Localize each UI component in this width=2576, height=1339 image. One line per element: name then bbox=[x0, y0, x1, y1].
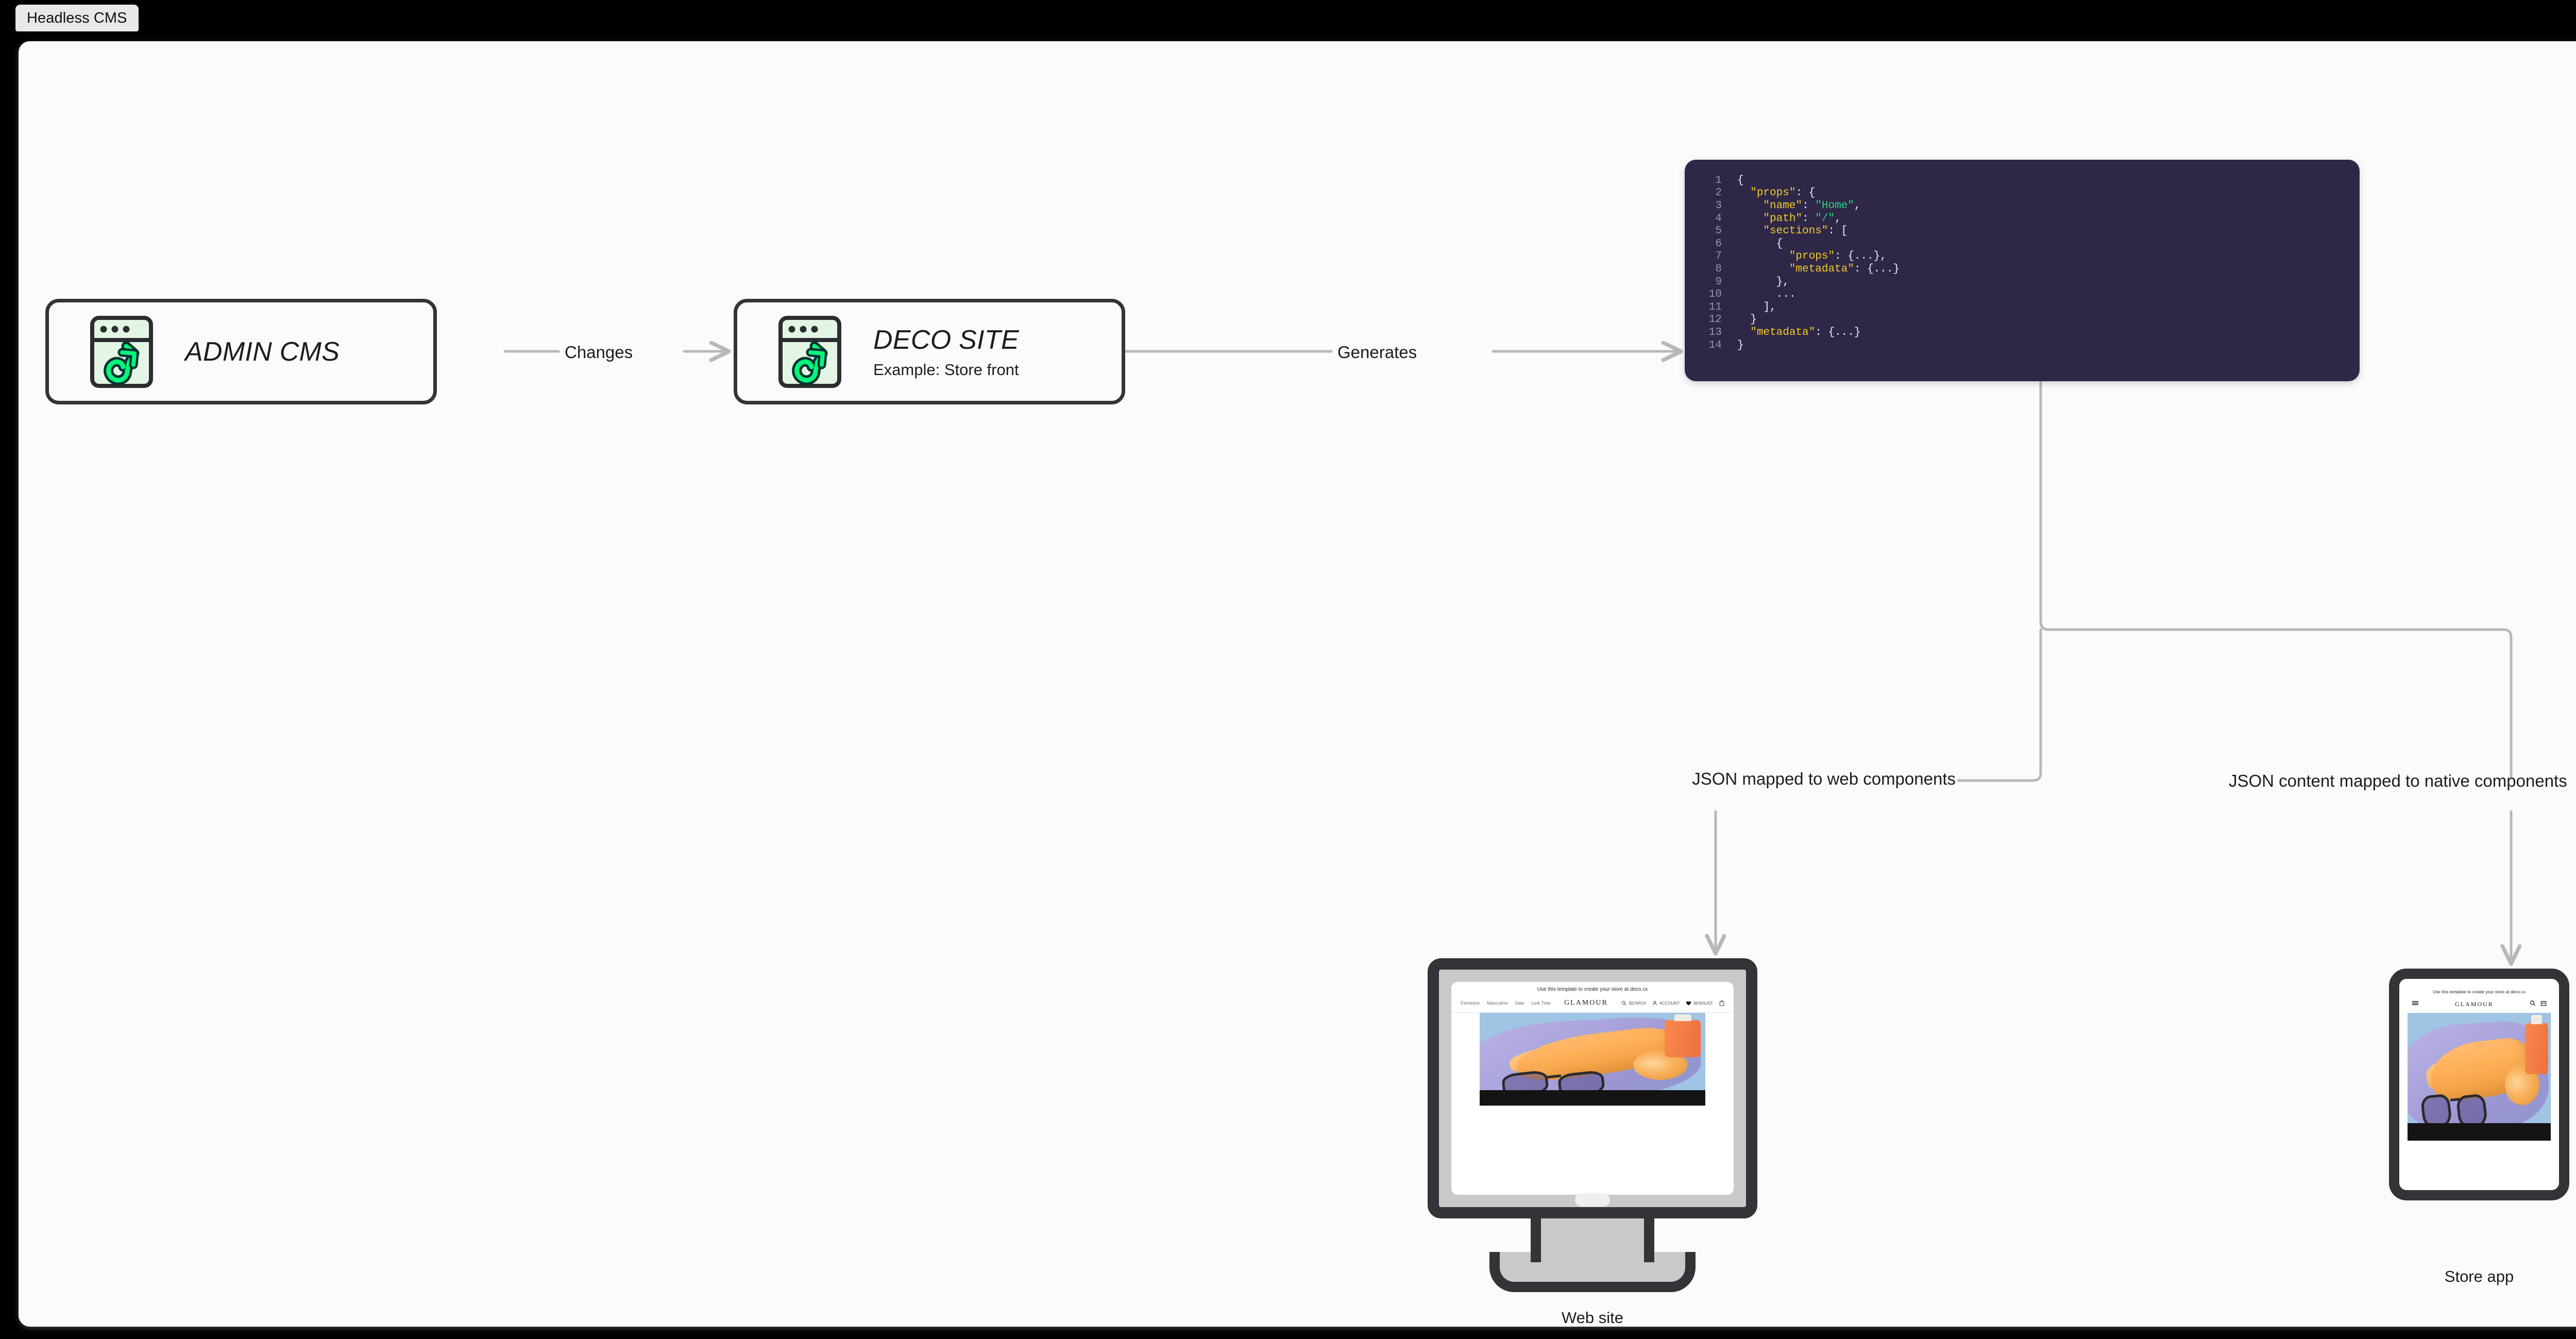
storefront-banner-text: Use this template to create your store a… bbox=[2433, 989, 2526, 994]
code-line-number: 11 bbox=[1685, 301, 1722, 313]
caption-store-app-text: Store app bbox=[2445, 1267, 2514, 1285]
device-monitor[interactable]: Use this template to create your store a… bbox=[1428, 958, 1757, 1298]
code-line-content: { bbox=[1737, 175, 1744, 187]
node-deco-site-subtitle: Example: Store front bbox=[873, 361, 1019, 379]
code-line: 11 ], bbox=[1685, 301, 2360, 314]
edge-label-generates-text: Generates bbox=[1337, 343, 1417, 362]
code-line: 12 } bbox=[1685, 314, 2360, 327]
device-phone[interactable]: Use this template to create your store a… bbox=[2389, 969, 2569, 1200]
storefront-hero-image bbox=[1480, 1013, 1705, 1106]
code-line-content: }, bbox=[1737, 276, 1789, 288]
monitor-bezel: Use this template to create your store a… bbox=[1428, 958, 1757, 1218]
code-line: 7 "props": {...}, bbox=[1685, 250, 2360, 263]
search-icon[interactable] bbox=[2530, 999, 2536, 1009]
edge-label-changes-text: Changes bbox=[565, 343, 633, 362]
code-line-number: 2 bbox=[1685, 187, 1722, 199]
code-line: 10 ... bbox=[1685, 288, 2360, 301]
code-line-number: 13 bbox=[1685, 327, 1722, 338]
code-line-content: ... bbox=[1737, 289, 1795, 300]
action-cart[interactable] bbox=[1719, 1000, 1724, 1006]
phone-header-actions bbox=[2530, 999, 2547, 1009]
edge-label-web-mapping: JSON mapped to web components bbox=[1502, 769, 1956, 789]
code-line-number: 5 bbox=[1685, 225, 1722, 237]
node-admin-cms-title: ADMIN CMS bbox=[185, 336, 340, 367]
edge-label-native-mapping: JSON content mapped to native components bbox=[2229, 771, 2567, 791]
edge-label-web-mapping-text: JSON mapped to web components bbox=[1692, 769, 1956, 788]
window-tab-label: Headless CMS bbox=[27, 10, 127, 27]
wishlist-heart-icon bbox=[1686, 1001, 1691, 1006]
code-line-content: } bbox=[1737, 314, 1757, 326]
code-line-number: 8 bbox=[1685, 263, 1722, 275]
phone-bezel: Use this template to create your store a… bbox=[2389, 969, 2569, 1200]
code-line-content: "name": "Home", bbox=[1737, 200, 1861, 212]
monitor-power-led bbox=[1575, 1193, 1610, 1207]
code-line-number: 6 bbox=[1685, 238, 1722, 250]
code-line-number: 9 bbox=[1685, 276, 1722, 288]
code-line-content: "props": {...}, bbox=[1737, 250, 1887, 262]
nav-item-link-tree[interactable]: Link Tree bbox=[1532, 1001, 1551, 1006]
storefront-banner-text: Use this template to create your store a… bbox=[1537, 987, 1648, 992]
action-wishlist-label: WISHLIST bbox=[1693, 1001, 1713, 1006]
hamburger-menu-icon[interactable] bbox=[2412, 999, 2419, 1009]
action-wishlist[interactable]: WISHLIST bbox=[1686, 1001, 1713, 1006]
code-line: 6 { bbox=[1685, 238, 2360, 250]
storefront-actions: SEARCH ACCOUNT bbox=[1621, 1000, 1724, 1006]
monitor-neck bbox=[1531, 1216, 1654, 1262]
code-line-content: "props": { bbox=[1737, 187, 1815, 199]
code-line-number: 1 bbox=[1685, 175, 1722, 187]
code-line: 9 }, bbox=[1685, 276, 2360, 289]
monitor-screen[interactable]: Use this template to create your store a… bbox=[1451, 982, 1734, 1195]
node-deco-site-title: DECO SITE bbox=[873, 325, 1019, 355]
storefront-banner: Use this template to create your store a… bbox=[2404, 984, 2554, 997]
action-search[interactable]: SEARCH bbox=[1621, 1001, 1646, 1006]
account-icon bbox=[1652, 1001, 1657, 1006]
code-line-number: 7 bbox=[1685, 250, 1722, 262]
code-line-number: 10 bbox=[1685, 289, 1722, 300]
phone-screen[interactable]: Use this template to create your store a… bbox=[2404, 984, 2554, 1185]
edge-label-changes: Changes bbox=[565, 343, 633, 362]
edge-label-native-mapping-text: JSON content mapped to native components bbox=[2229, 771, 2567, 790]
code-line-number: 4 bbox=[1685, 213, 1722, 225]
action-search-label: SEARCH bbox=[1629, 1001, 1646, 1006]
code-line: 8 "metadata": {...} bbox=[1685, 263, 2360, 276]
node-deco-site[interactable]: DECO SITE Example: Store front bbox=[734, 299, 1125, 404]
storefront-banner: Use this template to create your store a… bbox=[1451, 982, 1734, 996]
storefront-header: Feminino Masculino Sale Link Tree GLAMOU… bbox=[1451, 996, 1734, 1013]
action-account-label: ACCOUNT bbox=[1659, 1001, 1680, 1006]
shopping-bag-icon bbox=[1719, 1000, 1724, 1006]
code-line-content: "metadata": {...} bbox=[1737, 263, 1900, 275]
shopping-bag-icon[interactable] bbox=[2540, 999, 2547, 1009]
nav-item-feminino[interactable]: Feminino bbox=[1461, 1001, 1480, 1006]
node-admin-cms[interactable]: ADMIN CMS bbox=[45, 299, 437, 404]
caption-web-site-text: Web site bbox=[1562, 1309, 1623, 1327]
window-tab-headless-cms[interactable]: Headless CMS bbox=[15, 5, 139, 31]
code-line-content: } bbox=[1737, 340, 1744, 351]
code-line: 3 "name": "Home", bbox=[1685, 199, 2360, 212]
nav-item-masculino[interactable]: Masculino bbox=[1487, 1001, 1508, 1006]
code-line-content: "sections": [ bbox=[1737, 225, 1848, 237]
storefront-header: GLAMOUR bbox=[2404, 997, 2554, 1013]
code-line-number: 3 bbox=[1685, 200, 1722, 212]
deco-browser-icon bbox=[90, 315, 153, 388]
code-line: 4 "path": "/", bbox=[1685, 212, 2360, 225]
code-line-content: "metadata": {...} bbox=[1737, 327, 1860, 338]
edge-label-generates: Generates bbox=[1337, 343, 1417, 362]
search-icon bbox=[1621, 1001, 1626, 1006]
caption-web-site: Web site bbox=[1428, 1309, 1757, 1327]
caption-store-app: Store app bbox=[2389, 1267, 2569, 1286]
deco-browser-icon bbox=[778, 315, 841, 388]
code-line-content: ], bbox=[1737, 301, 1776, 313]
storefront-hero-image bbox=[2408, 1013, 2551, 1141]
code-line: 14} bbox=[1685, 339, 2360, 352]
storefront-brand: GLAMOUR bbox=[2455, 1001, 2494, 1008]
code-line-number: 14 bbox=[1685, 340, 1722, 351]
nav-item-sale[interactable]: Sale bbox=[1515, 1001, 1524, 1006]
storefront-brand: GLAMOUR bbox=[1564, 999, 1608, 1007]
code-line: 2 "props": { bbox=[1685, 187, 2360, 200]
code-line: 5 "sections": [ bbox=[1685, 225, 2360, 238]
code-line: 13 "metadata": {...} bbox=[1685, 326, 2360, 339]
code-line-number: 12 bbox=[1685, 314, 1722, 326]
code-lines: 1{2 "props": {3 "name": "Home",4 "path":… bbox=[1685, 174, 2360, 351]
json-code-block[interactable]: 1{2 "props": {3 "name": "Home",4 "path":… bbox=[1685, 160, 2360, 381]
storefront-nav: Feminino Masculino Sale Link Tree bbox=[1461, 1001, 1551, 1006]
action-account[interactable]: ACCOUNT bbox=[1652, 1001, 1680, 1006]
code-line-content: { bbox=[1737, 238, 1783, 250]
code-line-content: "path": "/", bbox=[1737, 213, 1841, 225]
diagram-canvas[interactable]: Changes Generates JSON mapped to web com… bbox=[19, 41, 2576, 1327]
code-line: 1{ bbox=[1685, 174, 2360, 187]
